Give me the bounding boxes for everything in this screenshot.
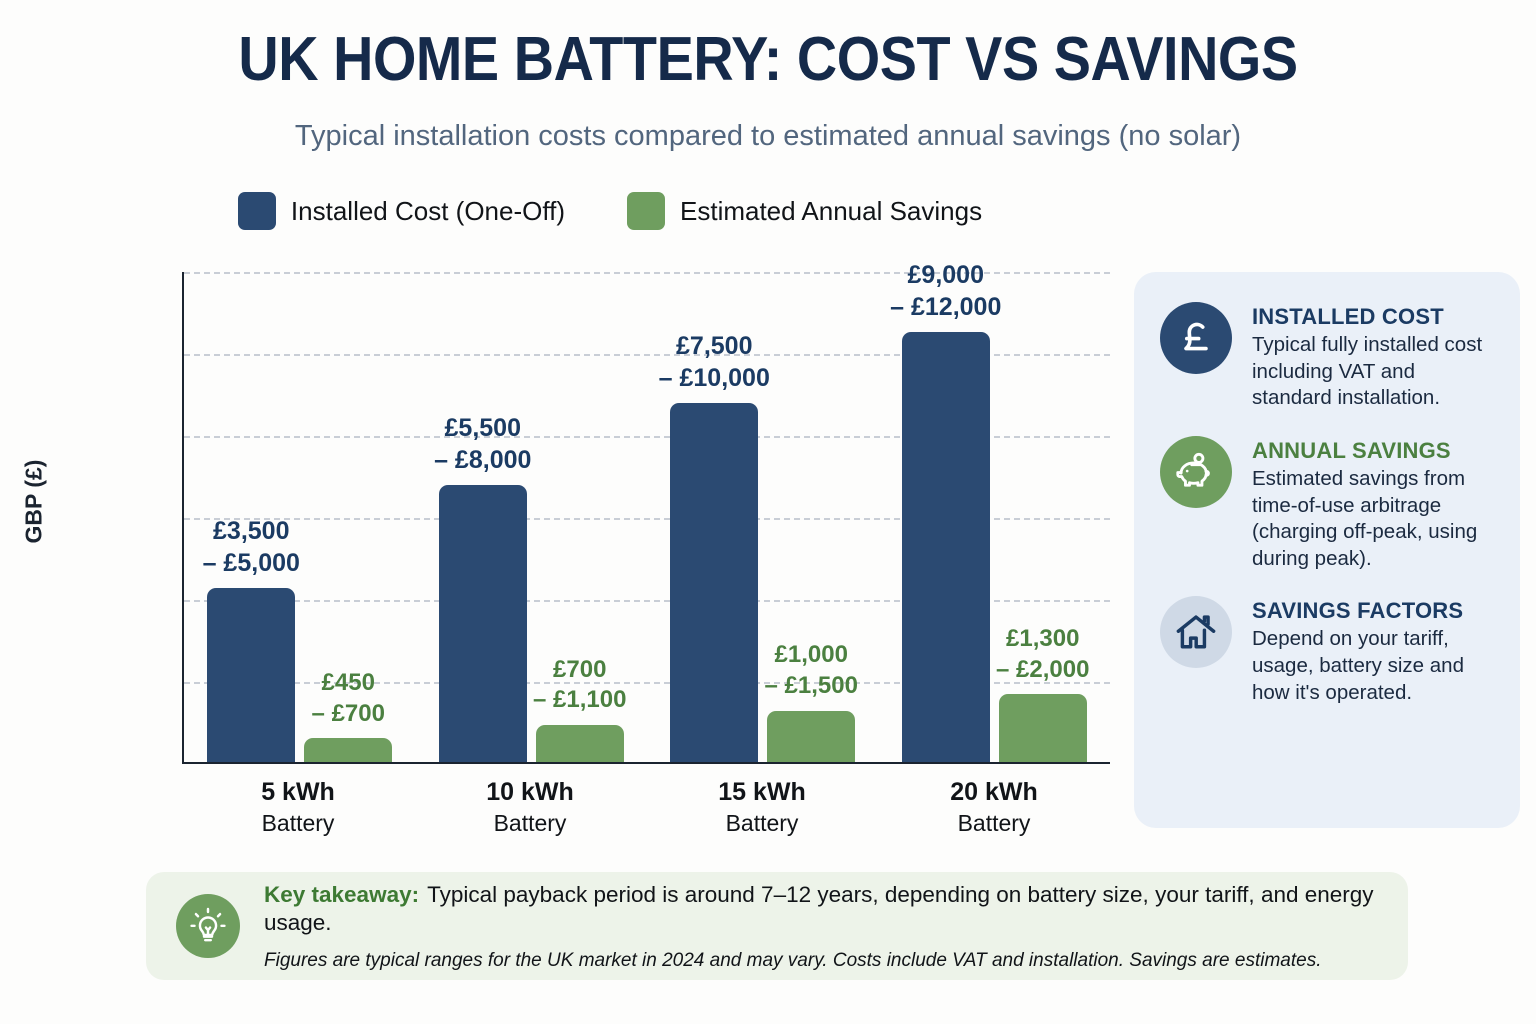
bar-value-label: £1,000– £1,500 xyxy=(765,640,858,701)
sidebar-card-title: ANNUAL SAVINGS xyxy=(1252,438,1494,464)
takeaway-body: Typical payback period is around 7–12 ye… xyxy=(264,882,1374,935)
bar-column: £700– £1,100 xyxy=(536,272,624,762)
sidebar-card-savings-factors: SAVINGS FACTORS Depend on your tariff, u… xyxy=(1160,596,1494,706)
legend-item-annual-savings[interactable]: Estimated Annual Savings xyxy=(627,192,982,230)
y-axis-title: GBP (£) xyxy=(20,460,47,544)
bar-annual-savings[interactable]: £1,000– £1,500 xyxy=(767,711,855,762)
lightbulb-icon xyxy=(176,894,240,958)
legend-swatch-installed-cost xyxy=(238,192,276,230)
bar-annual-savings[interactable]: £450– £700 xyxy=(304,738,392,762)
x-axis-category: 5 kWhBattery xyxy=(182,778,414,837)
bar-value-label: £1,300– £2,000 xyxy=(996,624,1089,685)
legend-item-installed-cost[interactable]: Installed Cost (One-Off) xyxy=(238,192,565,230)
key-takeaway-banner: Key takeaway:Typical payback period is a… xyxy=(146,872,1408,980)
bar-chart: GBP (£) £0£2,000£4,000£6,000£8,000£10,00… xyxy=(0,258,1120,858)
bar-column: £1,300– £2,000 xyxy=(999,272,1087,762)
bar-group: £7,500– £10,000£1,000– £1,500 xyxy=(647,272,879,762)
house-icon xyxy=(1160,596,1232,668)
bar-value-label: £450– £700 xyxy=(312,668,385,729)
bar-column: £450– £700 xyxy=(304,272,392,762)
chart-legend: Installed Cost (One-Off) Estimated Annua… xyxy=(0,192,1220,230)
bar-installed-cost[interactable]: £3,500– £5,000 xyxy=(207,588,295,762)
piggy-bank-icon xyxy=(1160,436,1232,508)
bar-group: £5,500– £8,000£700– £1,100 xyxy=(416,272,648,762)
sidebar-card-desc: Typical fully installed cost including V… xyxy=(1252,332,1494,412)
sidebar-card-title: SAVINGS FACTORS xyxy=(1252,598,1494,624)
pound-icon xyxy=(1160,302,1232,374)
takeaway-line: Key takeaway:Typical payback period is a… xyxy=(264,881,1378,937)
legend-swatch-annual-savings xyxy=(627,192,665,230)
disclaimer-text: Figures are typical ranges for the UK ma… xyxy=(264,949,1378,973)
page-subtitle: Typical installation costs compared to e… xyxy=(0,120,1536,153)
x-axis-labels: 5 kWhBattery10 kWhBattery15 kWhBattery20… xyxy=(182,778,1110,837)
sidebar-card-title: INSTALLED COST xyxy=(1252,304,1494,330)
info-sidebar: INSTALLED COST Typical fully installed c… xyxy=(1134,272,1520,828)
x-axis-category: 20 kWhBattery xyxy=(878,778,1110,837)
bar-value-label: £7,500– £10,000 xyxy=(659,330,770,394)
plot-area: £3,500– £5,000£450– £700£5,500– £8,000£7… xyxy=(182,272,1110,764)
bar-value-label: £5,500– £8,000 xyxy=(434,412,531,476)
bar-value-label: £3,500– £5,000 xyxy=(203,515,300,579)
bar-group: £9,000– £12,000£1,300– £2,000 xyxy=(879,272,1111,762)
bar-groups: £3,500– £5,000£450– £700£5,500– £8,000£7… xyxy=(184,272,1110,762)
sidebar-card-installed-cost: INSTALLED COST Typical fully installed c… xyxy=(1160,302,1494,412)
bar-column: £3,500– £5,000 xyxy=(207,272,295,762)
bar-value-label: £700– £1,100 xyxy=(533,655,626,716)
sidebar-card-desc: Depend on your tariff, usage, battery si… xyxy=(1252,626,1494,706)
bar-installed-cost[interactable]: £9,000– £12,000 xyxy=(902,332,990,763)
legend-label-annual-savings: Estimated Annual Savings xyxy=(680,196,982,227)
bar-installed-cost[interactable]: £5,500– £8,000 xyxy=(439,485,527,762)
bar-annual-savings[interactable]: £700– £1,100 xyxy=(536,725,624,762)
x-axis-category: 15 kWhBattery xyxy=(646,778,878,837)
bar-column: £7,500– £10,000 xyxy=(670,272,758,762)
bar-value-label: £9,000– £12,000 xyxy=(890,259,1001,323)
infographic-page: UK HOME BATTERY: COST VS SAVINGS Typical… xyxy=(0,0,1536,1024)
x-axis-category: 10 kWhBattery xyxy=(414,778,646,837)
page-title: UK HOME BATTERY: COST VS SAVINGS xyxy=(77,24,1459,95)
bar-installed-cost[interactable]: £7,500– £10,000 xyxy=(670,403,758,762)
sidebar-card-annual-savings: ANNUAL SAVINGS Estimated savings from ti… xyxy=(1160,436,1494,573)
bar-column: £5,500– £8,000 xyxy=(439,272,527,762)
takeaway-label: Key takeaway: xyxy=(264,882,419,907)
bar-group: £3,500– £5,000£450– £700 xyxy=(184,272,416,762)
bar-column: £9,000– £12,000 xyxy=(902,272,990,762)
sidebar-card-desc: Estimated savings from time-of-use arbit… xyxy=(1252,466,1494,573)
bar-column: £1,000– £1,500 xyxy=(767,272,855,762)
bar-annual-savings[interactable]: £1,300– £2,000 xyxy=(999,694,1087,762)
legend-label-installed-cost: Installed Cost (One-Off) xyxy=(291,196,565,227)
